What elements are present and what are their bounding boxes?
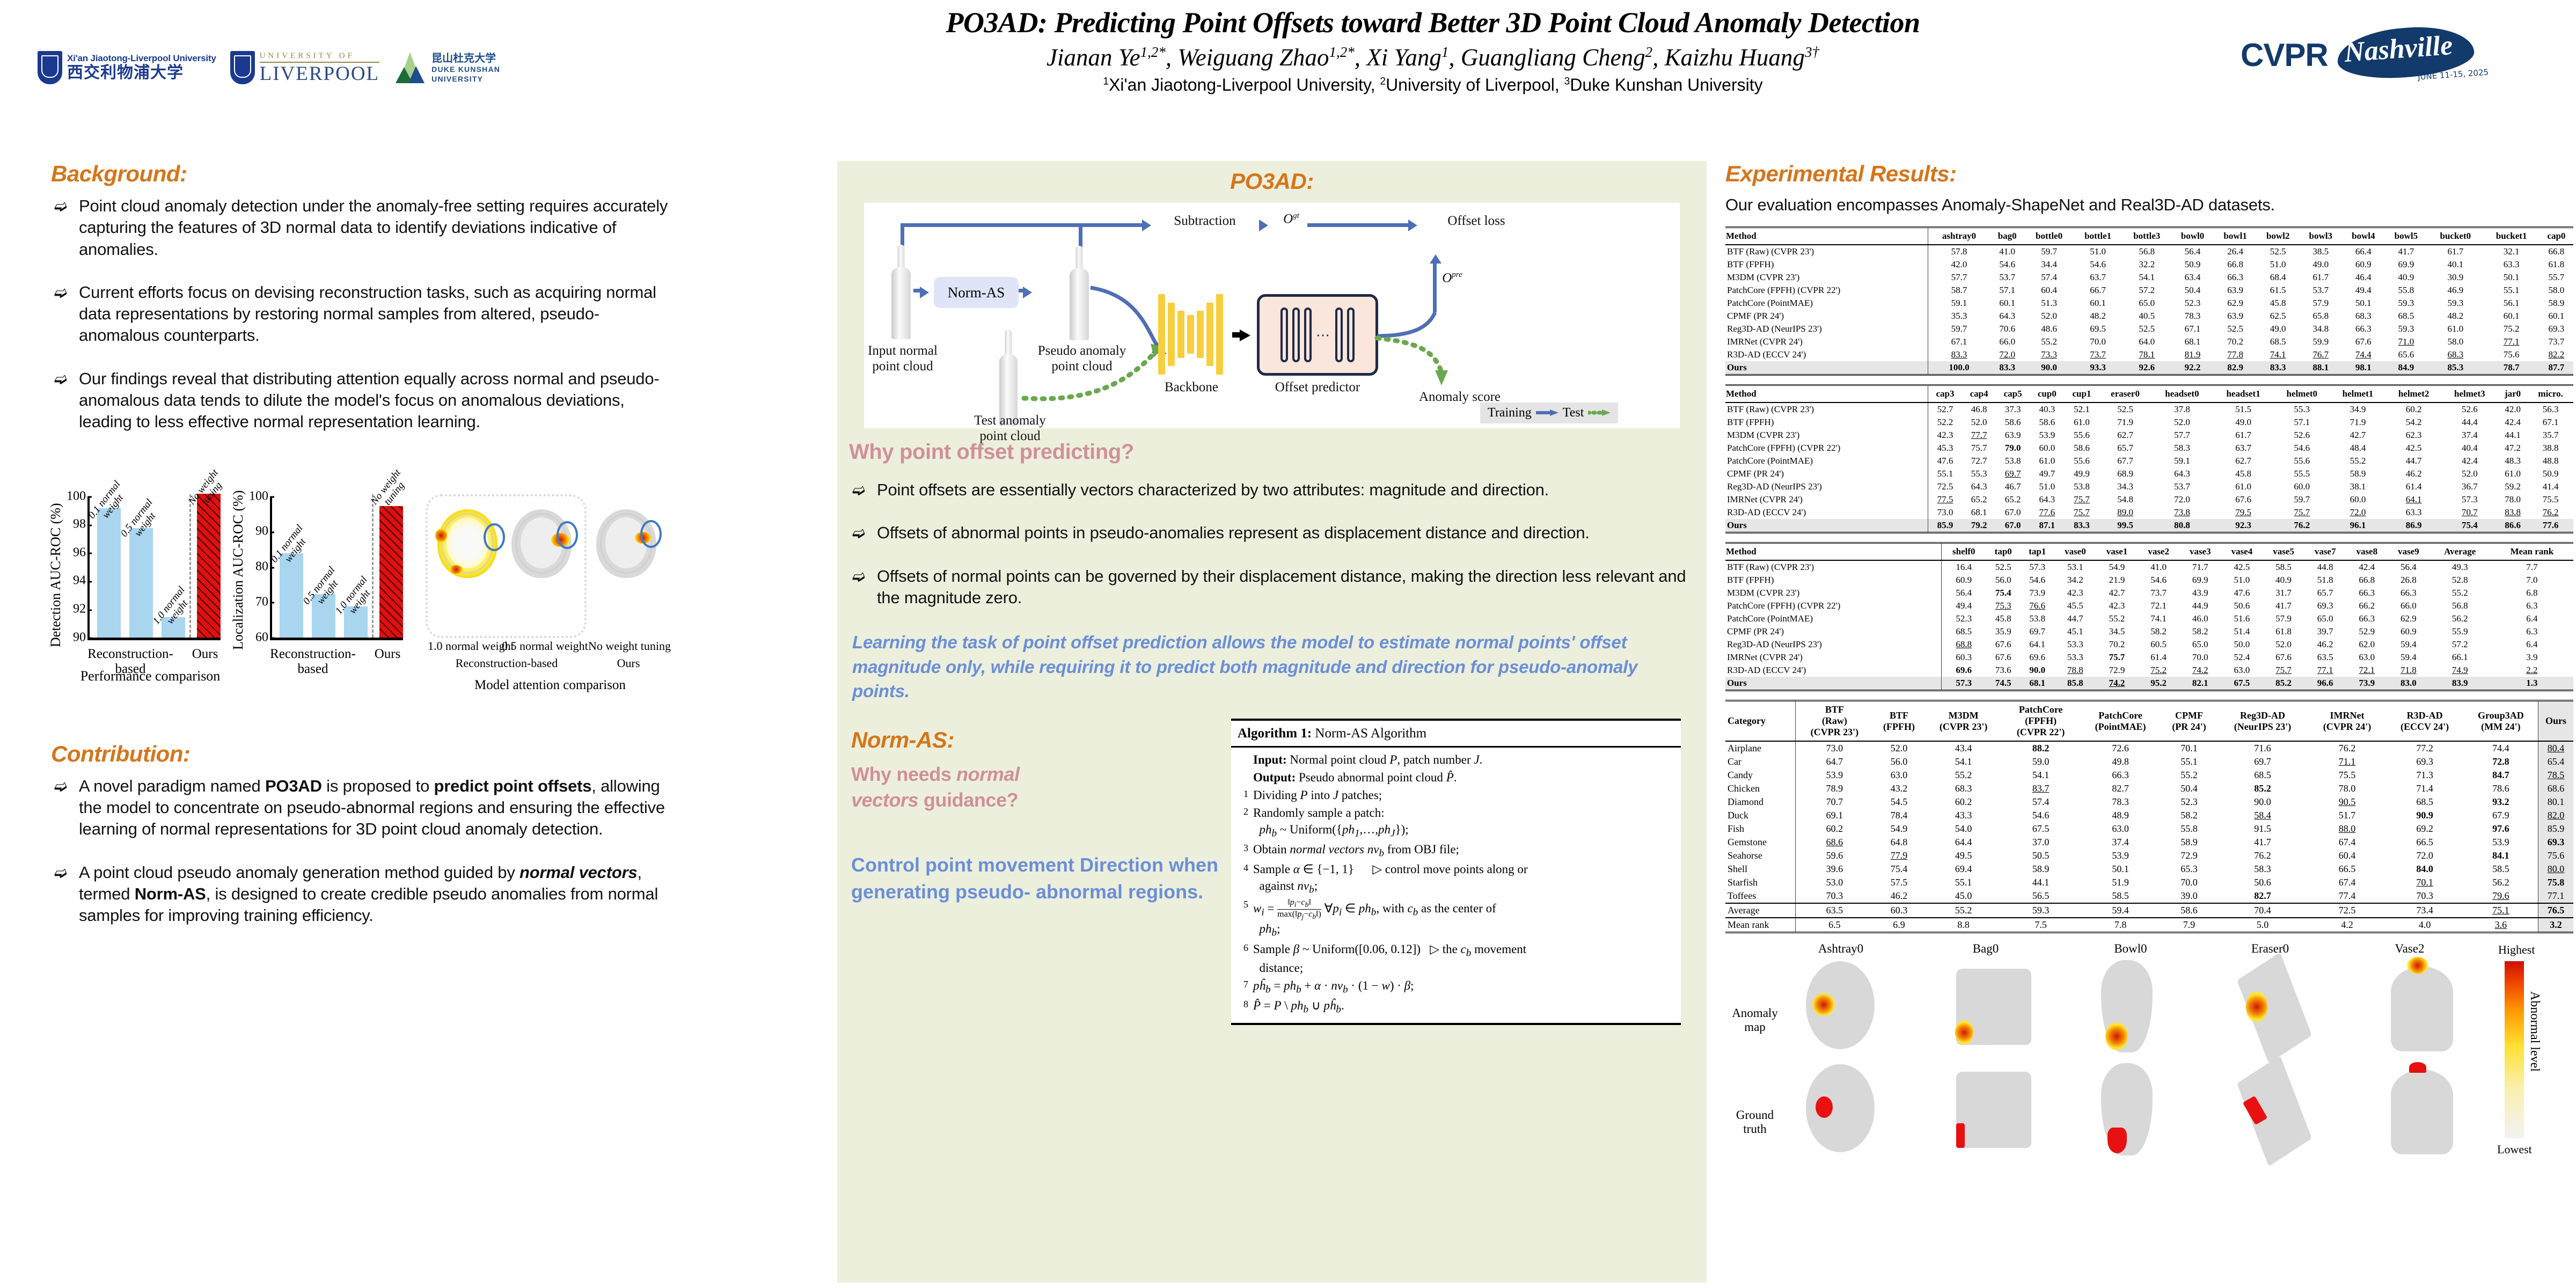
t4-cell-3-5: 50.4 [2161,782,2216,795]
t1-cell-3-6: 63.9 [2214,284,2257,297]
t3-cell-6-12: 57.2 [2429,638,2491,651]
t1-method-8: R3D-AD (ECCV 24') [1725,348,1928,361]
t2-cell-0-13: 56.3 [2528,402,2573,416]
attention-group-label-right: Ours [602,656,655,670]
t3-cell-5-3: 45.1 [2054,625,2096,638]
t1-cell-9-7: 83.3 [2257,361,2300,375]
t4-cell-2-2: 55.2 [1925,769,2002,782]
t3-cell-5-0: 68.5 [1941,625,1986,638]
t4-cell-4-5: 52.3 [2161,795,2216,809]
t3-cell-6-0: 68.8 [1941,638,1986,651]
t1-cell-0-1: 41.0 [1990,245,2025,258]
t2-cell-3-8: 54.6 [2274,442,2330,455]
t2-cell-7-5: 54.8 [2099,493,2151,506]
t4-cell-7-6: 41.7 [2217,836,2309,849]
institution-logos: Xi'an Jiaotong-Liverpool University 西交利物… [38,51,500,84]
t3-cell-4-4: 55.2 [2096,612,2138,625]
xjtlu-crest-icon [38,51,62,84]
vis-col-header-4: Vase2 [2364,942,2455,956]
t2-cell-2-4: 55.6 [2065,429,2099,442]
figure-qualitative-visualization: Ashtray0 Bag0 Bowl0 Eraser0 Vase2 Anomal… [1725,942,2573,1173]
t2-cell-8-0: 73.0 [1928,506,1962,519]
t1-col-header-7: bowl2 [2257,228,2300,245]
t3-cell-0-2: 57.3 [2021,560,2055,574]
background-section-title: Background: [51,161,668,187]
t1-cell-1-4: 32.2 [2123,258,2171,271]
t2-cell-5-0: 55.1 [1928,467,1962,480]
liverpool-logo: UNIVERSITY OF LIVERPOOL [230,51,380,84]
t2-cell-8-8: 75.7 [2274,506,2330,519]
vis-gt-ashtray0 [1816,1096,1833,1118]
t4-summary-cell-1-4: 7.8 [2080,918,2162,933]
t1-cell-5-10: 68.5 [2385,310,2428,323]
t4-category-header: Category [1725,701,1796,742]
t1-cell-1-7: 51.0 [2257,258,2300,271]
t2-cell-4-4: 55.6 [2065,455,2099,467]
t2-cell-0-11: 52.6 [2442,402,2498,416]
t2-cell-1-5: 71.9 [2099,416,2151,429]
t3-cell-0-11: 56.4 [2388,560,2429,574]
t4-cell-8-6: 76.2 [2217,849,2309,862]
table-row: Reg3D-AD (NeurIPS 23')59.770.648.669.552… [1725,323,2573,335]
t2-cell-2-13: 35.7 [2528,429,2573,442]
t1-cell-0-9: 66.4 [2342,245,2385,258]
table-row: M3DM (CVPR 23')42.377.763.953.955.662.75… [1725,429,2573,442]
t1-cell-8-7: 74.1 [2257,348,2300,361]
t1-method-9: Ours [1725,361,1928,375]
t2-cell-2-9: 42.7 [2330,429,2385,442]
t2-cell-4-1: 72.7 [1962,455,1996,467]
algorithm-step-7: 7 pĥb = phb + α · nvb · (1 − w) · β; [1238,978,1674,997]
t2-cell-7-12: 78.0 [2498,493,2528,506]
t1-cell-1-6: 66.8 [2214,258,2257,271]
t2-cell-8-12: 83.8 [2498,506,2528,519]
chart1-bar-label-0: 0.1 normalweight [87,479,131,527]
diagram-arrow-to-subtraction [1142,219,1151,231]
t3-cell-8-12: 74.9 [2429,664,2491,677]
t1-cell-1-9: 60.9 [2342,258,2385,271]
t3-method-header: Method [1725,543,1941,561]
xjtlu-logo: Xi'an Jiaotong-Liverpool University 西交利物… [38,51,216,84]
t3-cell-2-1: 75.4 [1986,587,2021,599]
vis-shape-bag0-gt [1956,1072,2031,1148]
t2-cell-7-13: 75.5 [2528,493,2573,506]
t3-col-header-13: Mean rank [2491,543,2573,561]
t1-cell-9-9: 98.1 [2342,361,2385,375]
t2-cell-5-6: 64.3 [2151,467,2213,480]
t3-cell-9-7: 67.5 [2221,677,2263,691]
results-intro-text: Our evaluation encompasses Anomaly-Shape… [1725,195,2573,215]
t4-cell-8-8: 72.0 [2386,849,2464,862]
diagram-label-offset-predictor: Offset predictor [1252,380,1384,396]
normas-section-title: Norm-AS: [851,727,1227,753]
t1-cell-7-6: 70.2 [2214,335,2257,348]
table-row: Diamond70.754.560.257.478.352.390.090.56… [1725,795,2573,809]
t2-method-8: R3D-AD (ECCV 24') [1725,506,1928,519]
t3-cell-6-5: 60.5 [2138,638,2179,651]
t2-cell-5-3: 49.7 [2030,467,2065,480]
t3-cell-6-8: 52.0 [2263,638,2304,651]
t3-cell-7-3: 53.3 [2054,651,2096,664]
t4-cell-0-0: 73.0 [1796,741,1874,755]
t2-cell-3-3: 60.0 [2030,442,2065,455]
t1-method-7: IMRNet (CVPR 24') [1725,335,1928,348]
t4-cell-7-2: 64.4 [1925,836,2002,849]
t2-cell-7-10: 64.1 [2386,493,2442,506]
t1-cell-5-12: 60.1 [2483,310,2539,323]
t3-cell-1-1: 56.0 [1986,574,2021,587]
t4-summary-cell-1-3: 7.5 [2002,918,2080,933]
t1-cell-6-7: 49.0 [2257,323,2300,335]
t1-cell-4-8: 57.9 [2299,297,2342,310]
chart2-ylabel: Localization AUC-ROC (%) [229,481,247,658]
algorithm-step-1: 1 Dividing P into J patches; [1238,787,1674,804]
table-row: Ours85.979.267.087.183.399.580.892.376.2… [1725,519,2573,533]
t1-cell-6-6: 52.5 [2214,323,2257,335]
table-row: M3DM (CVPR 23')57.753.757.463.754.163.46… [1725,271,2573,284]
t4-category-7: Gemstone [1725,836,1796,849]
t4-cell-3-9: 78.6 [2464,782,2538,795]
liverpool-logo-name: LIVERPOOL [260,64,380,84]
t4-summary-cell-1-9: 3.6 [2464,918,2538,933]
t4-cell-9-10: 80.0 [2538,862,2573,876]
t4-cell-7-3: 37.0 [2002,836,2080,849]
diagram-line-top [901,223,1142,227]
t3-cell-1-0: 60.9 [1941,574,1986,587]
t2-cell-3-10: 42.5 [2386,442,2442,455]
t2-cell-8-3: 77.6 [2030,506,2065,519]
t1-col-header-8: bowl3 [2299,228,2342,245]
colorbar-bottom-label: Lowest [2497,1143,2532,1157]
author-0: Jianan Ye1,2* [1046,44,1166,71]
t1-cell-2-13: 55.7 [2540,271,2573,284]
t4-cell-6-2: 54.0 [1925,822,2002,836]
normas-section: Norm-AS: Why needs normal vectors guidan… [849,727,1695,1028]
t2-cell-7-1: 65.2 [1962,493,1996,506]
t1-cell-1-10: 69.9 [2385,258,2428,271]
t2-cell-9-5: 99.5 [2099,519,2151,533]
vis-heat-bag0 [1955,1020,1973,1045]
t2-cell-5-10: 46.2 [2386,467,2442,480]
t4-cell-11-6: 82.7 [2217,889,2309,903]
diagram-arrow-backbone-predictor [1240,330,1250,341]
t3-cell-7-7: 52.4 [2221,651,2263,664]
t3-cell-2-8: 31.7 [2263,587,2304,599]
t1-cell-4-6: 62.9 [2214,297,2257,310]
background-bullet-1: ➫Current efforts focus on devising recon… [51,282,668,347]
t1-cell-0-12: 32.1 [2483,245,2539,258]
t3-cell-7-5: 61.4 [2138,651,2179,664]
t3-cell-9-2: 68.1 [2021,677,2055,691]
t1-cell-9-4: 92.6 [2123,361,2171,375]
figure-po3ad-architecture: Subtraction Ogt Offset loss Input normal… [864,203,1680,428]
t4-cell-10-8: 70.1 [2386,876,2464,889]
t1-cell-4-2: 51.3 [2025,297,2074,310]
chart2-ytick-0: 60 [255,630,268,645]
t4-cell-10-5: 70.0 [2161,876,2216,889]
t3-method-3: PatchCore (FPFH) (CVPR 22') [1725,599,1941,612]
t2-cell-6-4: 53.8 [2065,480,2099,493]
chart-localization-aucroc: Localization AUC-ROC (%) 60 70 80 90 100… [233,455,411,707]
t3-cell-7-0: 60.3 [1941,651,1986,664]
t2-cell-8-10: 63.3 [2386,506,2442,519]
t4-cell-3-4: 82.7 [2080,782,2162,795]
table-row: IMRNet (CVPR 24')77.565.265.264.375.754.… [1725,493,2573,506]
t2-cell-8-11: 70.7 [2442,506,2498,519]
t1-cell-1-1: 54.6 [1990,258,2025,271]
table-row: Fish60.254.954.067.563.055.891.588.069.2… [1725,822,2573,836]
t2-cell-9-2: 67.0 [1996,519,2030,533]
t3-cell-6-3: 53.3 [2054,638,2096,651]
t4-cell-7-9: 53.9 [2464,836,2538,849]
t4-cell-9-7: 66.5 [2308,862,2385,876]
t2-cell-6-13: 41.4 [2528,480,2573,493]
vis-shape-vase2-gt [2391,1070,2453,1154]
t1-cell-6-2: 48.6 [2025,323,2074,335]
t4-cell-10-6: 50.6 [2217,876,2309,889]
t1-method-4: PatchCore (PointMAE) [1725,297,1928,310]
colorbar-axis-label: Abnormal level [2527,991,2542,1072]
t2-col-header-12: jar0 [2498,385,2528,403]
chart1-ytick-3: 96 [73,545,86,560]
t1-cell-1-3: 54.6 [2074,258,2123,271]
diagram-legend-training-label: Training [1488,406,1532,420]
t4-summary-cell-1-1: 6.9 [1874,918,1925,933]
t2-cell-6-11: 36.7 [2442,480,2498,493]
t3-cell-5-11: 60.9 [2388,625,2429,638]
diagram-predictor-ellipsis: ⋯ [1316,327,1331,343]
t4-cell-8-7: 60.4 [2308,849,2385,862]
t3-cell-7-4: 75.7 [2096,651,2138,664]
t2-cell-9-8: 76.2 [2274,519,2330,533]
t2-method-4: PatchCore (PointMAE) [1725,455,1928,467]
t2-method-3: PatchCore (FPFH) (CVPR 22') [1725,442,1928,455]
t4-col-header-9: Group3AD(MM 24') [2464,701,2538,742]
t3-cell-8-9: 77.1 [2304,664,2346,677]
t3-cell-9-12: 83.9 [2429,677,2491,691]
attention-panel-label-2: No weight tuning [587,639,672,653]
t3-col-header-9: vase7 [2304,543,2346,561]
diagram-bottle-input-normal [889,245,913,339]
table-row: CPMF (PR 24')35.364.352.048.240.578.363.… [1725,310,2573,323]
t2-cell-8-13: 76.2 [2528,506,2573,519]
t2-cell-6-8: 60.0 [2274,480,2330,493]
t3-cell-3-11: 66.0 [2388,599,2429,612]
t3-col-header-0: shelf0 [1941,543,1986,561]
t4-cell-7-4: 37.4 [2080,836,2162,849]
diagram-line-out-normas [1019,289,1027,292]
t1-cell-2-6: 66.3 [2214,271,2257,284]
t3-cell-1-7: 51.0 [2221,574,2263,587]
diagram-arrow-subtraction-ogt [1259,219,1268,231]
t3-cell-0-10: 42.4 [2346,560,2388,574]
t1-cell-2-2: 57.4 [2025,271,2074,284]
t2-cell-4-10: 44.7 [2386,455,2442,467]
attention-highlight-circle-1 [484,523,505,551]
t3-cell-4-2: 53.8 [2021,612,2055,625]
t3-cell-2-13: 6.8 [2491,587,2573,599]
t2-cell-3-11: 40.4 [2442,442,2498,455]
column-gutter [676,161,837,1283]
t1-cell-7-3: 70.0 [2074,335,2123,348]
chart1-bar-0 [97,508,121,638]
t4-cell-4-0: 70.7 [1796,795,1874,809]
t4-cell-6-9: 97.6 [2464,822,2538,836]
t4-cell-4-2: 60.2 [1925,795,2002,809]
diagram-arrowstem-backbone-predictor [1232,332,1241,338]
t3-cell-1-12: 52.8 [2429,574,2491,587]
algorithm-caption-number: Algorithm 1: [1238,726,1312,741]
t2-col-header-0: cap3 [1928,385,1962,403]
t1-cell-0-8: 38.5 [2299,245,2342,258]
t2-cell-0-8: 55.3 [2274,402,2330,416]
t4-cell-4-9: 93.2 [2464,795,2538,809]
t2-cell-5-7: 45.8 [2213,467,2274,480]
chart1-group-divider [189,494,191,638]
t4-cell-5-10: 82.0 [2538,809,2573,822]
t4-cell-5-8: 90.9 [2386,809,2464,822]
colorbar-top-label: Highest [2498,943,2535,957]
t4-cell-5-5: 58.2 [2161,809,2216,822]
t1-cell-4-5: 52.3 [2171,297,2214,310]
t1-cell-0-4: 56.8 [2123,245,2171,258]
t2-cell-5-13: 50.9 [2528,467,2573,480]
author-3: Guangliang Cheng2 [1461,44,1652,71]
t3-cell-5-10: 52.9 [2346,625,2388,638]
t3-cell-6-7: 50.0 [2221,638,2263,651]
t4-cell-7-0: 68.6 [1796,836,1874,849]
diagram-normas-block: Norm-AS [934,277,1019,308]
t3-cell-4-9: 65.0 [2304,612,2346,625]
t3-cell-0-5: 41.0 [2138,560,2179,574]
table-row: R3D-AD (ECCV 24')69.673.690.078.872.975.… [1725,664,2573,677]
t4-cell-1-9: 72.8 [2464,755,2538,769]
t3-cell-8-8: 75.7 [2263,664,2304,677]
t4-cell-7-10: 69.3 [2538,836,2573,849]
vis-gt-bag0 [1956,1123,1965,1148]
t4-cell-7-1: 64.8 [1874,836,1925,849]
t4-cell-10-10: 75.8 [2538,876,2573,889]
t2-cell-6-7: 61.0 [2213,480,2274,493]
t2-cell-3-9: 48.4 [2330,442,2385,455]
t3-col-header-10: vase8 [2346,543,2388,561]
t4-category-0: Airplane [1725,741,1796,755]
algorithm-step-6: 6 Sample β ~ Uniform([0.06, 0.12]) ▷ the… [1238,941,1674,977]
t3-cell-0-13: 7.7 [2491,560,2573,574]
t3-cell-6-4: 70.2 [2096,638,2138,651]
table-row: PatchCore (FPFH) (CVPR 22')45.375.779.06… [1725,442,2573,455]
chart1-bar-label-1: 0.5 normalweight [119,497,164,545]
t1-cell-5-6: 63.9 [2214,310,2257,323]
t3-cell-9-8: 85.2 [2263,677,2304,691]
table-row: R3D-AD (ECCV 24')73.068.167.077.675.789.… [1725,506,2573,519]
t2-cell-0-7: 51.5 [2213,402,2274,416]
diagram-legend-test-arrow-icon [1588,406,1611,420]
table-row: Reg3D-AD (NeurIPS 23')68.867.664.153.370… [1725,638,2573,651]
chart2-ytick-1: 70 [255,595,268,609]
t4-cell-1-10: 65.4 [2538,755,2573,769]
t1-cell-0-3: 51.0 [2074,245,2123,258]
figure-performance-and-attention: Detection AUC-ROC (%) 90 92 94 96 98 100… [51,455,668,734]
t2-cell-2-12: 44.1 [2498,429,2528,442]
diagram-legend-training-arrow-icon [1536,406,1558,420]
attention-highlight-circle-2 [557,521,578,549]
t3-cell-0-8: 58.5 [2263,560,2304,574]
t4-cell-11-2: 45.0 [1925,889,2002,903]
t3-method-6: Reg3D-AD (NeurIPS 23') [1725,638,1941,651]
t1-cell-8-0: 83.3 [1928,348,1990,361]
t1-cell-6-12: 75.2 [2483,323,2539,335]
t2-cell-1-1: 52.0 [1962,416,1996,429]
t4-ours-header: Ours [2538,701,2573,742]
t3-cell-1-4: 21.9 [2096,574,2138,587]
t3-cell-4-13: 6.4 [2491,612,2573,625]
t4-cell-11-3: 56.5 [2002,889,2080,903]
colorbar [2505,961,2524,1138]
t2-cell-1-0: 52.2 [1928,416,1962,429]
why-offset-bullet-2: ➫Offsets of normal points can be governe… [849,566,1695,609]
liverpool-logo-of: UNIVERSITY OF [260,52,380,60]
t1-col-header-11: bucket0 [2427,228,2483,245]
t2-cell-4-5: 67.7 [2099,455,2151,467]
t1-cell-2-4: 54.1 [2123,271,2171,284]
paper-title: PO3AD: Predicting Point Offsets toward B… [633,8,2233,38]
chart1-ylabel: Detection AUC-ROC (%) [47,487,65,664]
t2-cell-6-5: 34.3 [2099,480,2151,493]
results-table-1: Methodashtray0bag0bottle0bottle1bottle3b… [1725,226,2573,376]
t2-cell-3-12: 47.2 [2498,442,2528,455]
t2-cell-9-1: 79.2 [1962,519,1996,533]
t3-cell-7-11: 59.4 [2388,651,2429,664]
t3-cell-2-0: 56.4 [1941,587,1986,599]
t2-cell-1-4: 61.0 [2065,416,2099,429]
t2-cell-8-1: 68.1 [1962,506,1996,519]
t3-cell-3-7: 50.6 [2221,599,2263,612]
t1-cell-3-3: 66.7 [2074,284,2123,297]
t4-cell-8-3: 50.5 [2002,849,2080,862]
t2-method-9: Ours [1725,519,1928,533]
t3-cell-1-6: 69.9 [2179,574,2221,587]
t2-cell-0-1: 46.8 [1962,402,1996,416]
t4-cell-11-9: 79.6 [2464,889,2538,903]
t1-col-header-10: bowl5 [2385,228,2428,245]
t4-summary-cell-1-8: 4.0 [2386,918,2464,933]
t3-col-header-3: vase0 [2054,543,2096,561]
t4-cell-5-4: 48.9 [2080,809,2162,822]
t1-col-header-2: bottle0 [2025,228,2074,245]
attention-panel-label-1: 0.5 normal weight [502,639,581,653]
table-row: Chicken78.943.268.383.782.750.485.278.07… [1725,782,2573,795]
t2-cell-5-2: 69.7 [1996,467,2030,480]
t3-col-header-6: vase3 [2179,543,2221,561]
t4-cell-7-5: 58.9 [2161,836,2216,849]
t2-cell-0-10: 60.2 [2386,402,2442,416]
t2-cell-4-11: 42.4 [2442,455,2498,467]
t2-cell-1-2: 58.6 [1996,416,2030,429]
algorithm-box: Algorithm 1: Norm-AS Algorithm Input: No… [1231,719,1681,1026]
t1-method-3: PatchCore (FPFH) (CVPR 22') [1725,284,1928,297]
t1-cell-2-5: 63.4 [2171,271,2214,284]
t3-cell-3-1: 75.3 [1986,599,2021,612]
chart2-group-label-right: Ours [369,647,406,662]
t2-cell-6-6: 53.7 [2151,480,2213,493]
t1-cell-9-11: 85.3 [2427,361,2483,375]
t1-cell-3-1: 57.1 [1990,284,2025,297]
t1-cell-3-13: 58.0 [2540,284,2573,297]
t3-cell-1-9: 51.8 [2304,574,2346,587]
t3-cell-2-4: 42.7 [2096,587,2138,599]
t3-cell-6-6: 65.0 [2179,638,2221,651]
